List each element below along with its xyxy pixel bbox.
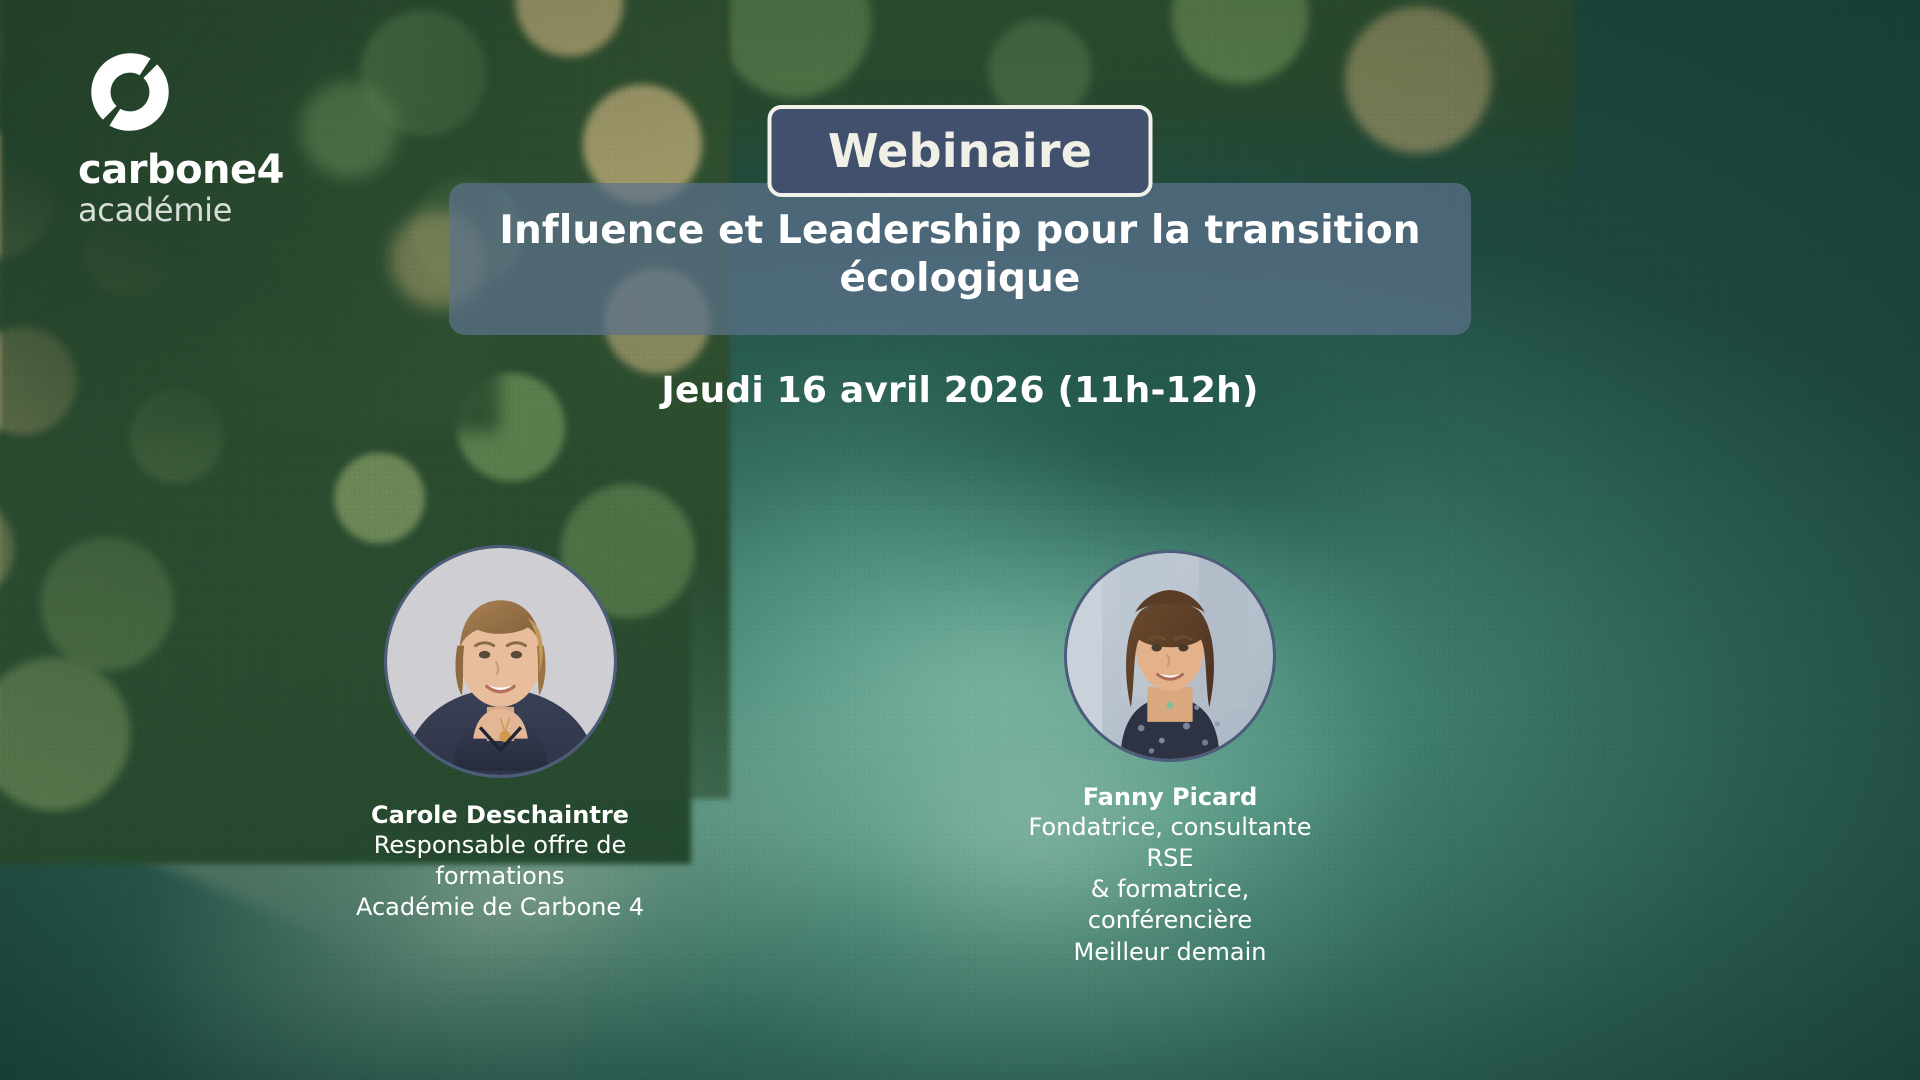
portrait-fanny-picard-image (1067, 553, 1273, 759)
speaker-role-line: Meilleur demain (1005, 937, 1335, 968)
speaker-role-line: Responsable offre de formations (335, 830, 665, 892)
avatar (1064, 550, 1276, 762)
speaker-role-line: & formatrice, conférencière (1005, 874, 1335, 936)
webinar-badge-label: Webinaire (828, 124, 1092, 178)
speaker-name: Carole Deschaintre (335, 802, 665, 830)
webinar-badge: Webinaire (768, 105, 1153, 197)
speaker-role-line: Académie de Carbone 4 (335, 892, 665, 923)
avatar (384, 545, 617, 778)
speaker-role-line: Fondatrice, consultante RSE (1005, 812, 1335, 874)
portrait-carole-deschaintre-image (387, 548, 614, 775)
speaker-card: Fanny Picard Fondatrice, consultante RSE… (1005, 550, 1335, 968)
speaker-name: Fanny Picard (1005, 784, 1335, 812)
speaker-card: Carole Deschaintre Responsable offre de … (335, 545, 665, 923)
